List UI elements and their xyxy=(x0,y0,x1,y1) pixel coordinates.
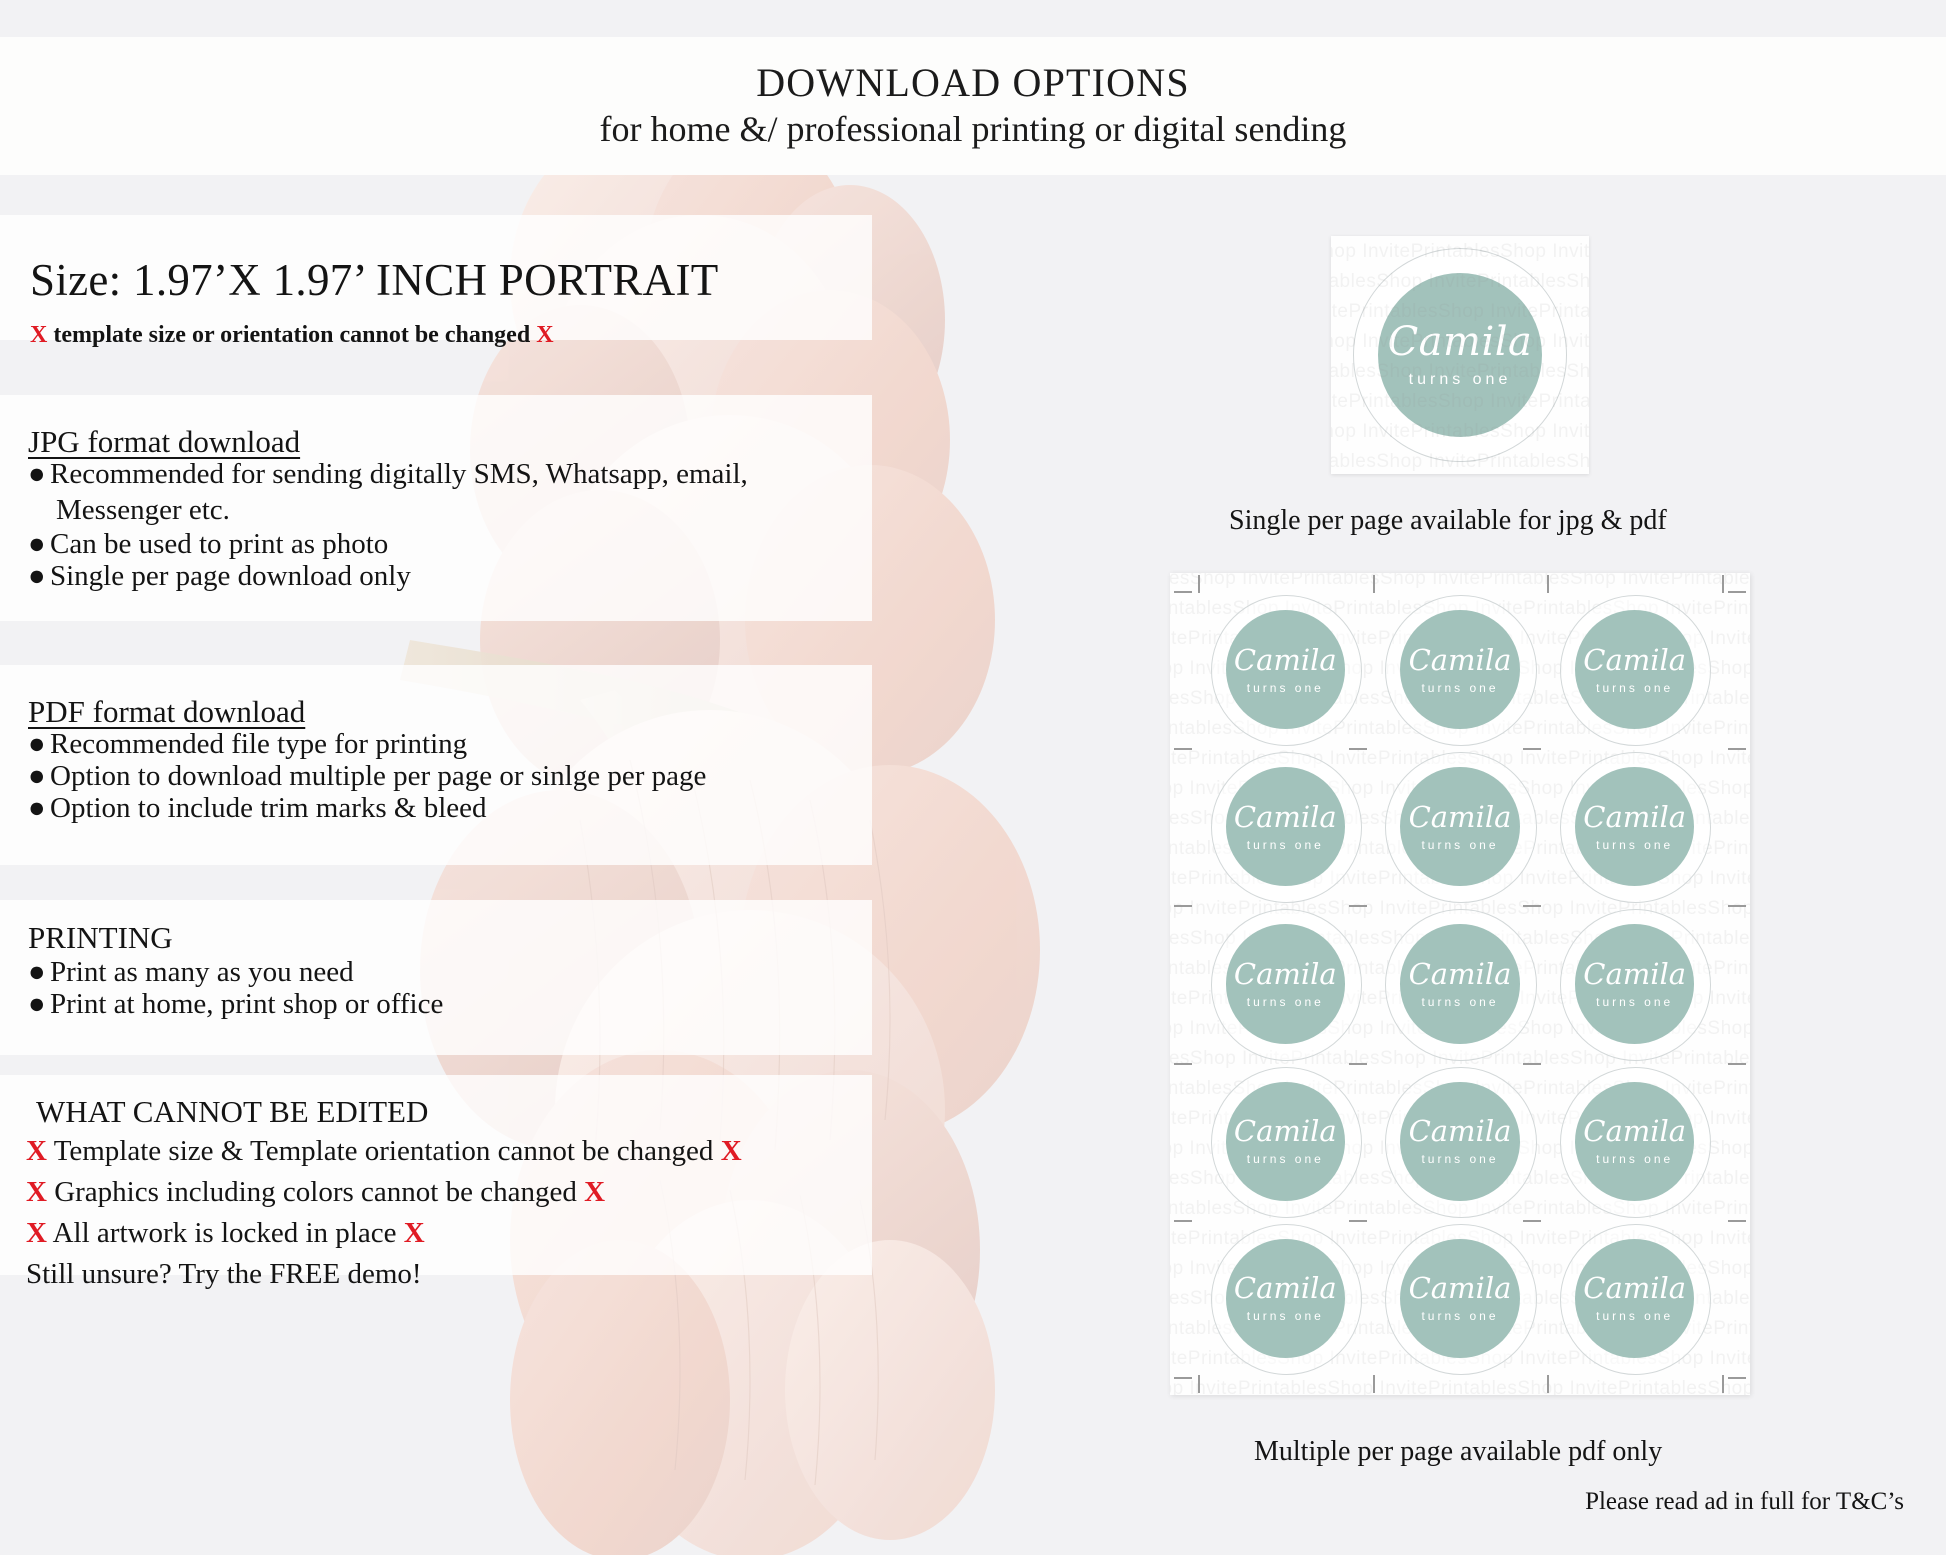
bullet-dot-icon: ● xyxy=(28,561,50,593)
printing-heading: PRINTING xyxy=(28,920,173,956)
pdf-bullet-3: ●Option to include trim marks & bleed xyxy=(28,793,487,825)
pdf-bullet-2-text: Option to download multiple per page or … xyxy=(50,760,706,792)
printing-bullet-1: ●Print as many as you need xyxy=(28,957,354,989)
pdf-heading: PDF format download xyxy=(28,694,305,730)
jpg-bullet-3: ●Single per page download only xyxy=(28,561,411,593)
pdf-bullet-3-text: Option to include trim marks & bleed xyxy=(50,792,487,824)
bullet-dot-icon: ● xyxy=(28,793,50,825)
x-icon-right: X xyxy=(536,322,553,348)
jpg-heading: JPG format download xyxy=(28,424,300,460)
x-icon-right: X xyxy=(584,1176,605,1208)
single-per-page-caption: Single per page available for jpg & pdf xyxy=(1229,505,1667,537)
x-icon-right: X xyxy=(404,1217,425,1249)
bullet-dot-icon: ● xyxy=(28,989,50,1021)
poster-canvas: DOWNLOAD OPTIONS for home &/ professiona… xyxy=(0,0,1946,1555)
printing-bullet-2: ●Print at home, print shop or office xyxy=(28,989,443,1021)
bullet-dot-icon: ● xyxy=(28,729,50,761)
printing-bullet-1-text: Print as many as you need xyxy=(50,956,354,988)
cannot-edit-heading: WHAT CANNOT BE EDITED xyxy=(36,1094,428,1130)
jpg-bullet-1-text: Recommended for sending digitally SMS, W… xyxy=(50,458,748,490)
multiple-per-page-caption: Multiple per page available pdf only xyxy=(1254,1436,1662,1468)
cannot-edit-line-3-text: All artwork is locked in place xyxy=(53,1217,397,1249)
x-icon-left: X xyxy=(30,322,47,348)
cannot-edit-line-2-text: Graphics including colors cannot be chan… xyxy=(54,1176,577,1208)
bullet-dot-icon: ● xyxy=(28,957,50,989)
jpg-bullet-1: ●Recommended for sending digitally SMS, … xyxy=(28,459,748,491)
jpg-bullet-3-text: Single per page download only xyxy=(50,560,411,592)
cannot-edit-line-1: X Template size & Template orientation c… xyxy=(26,1135,742,1168)
size-title: Size: 1.97’X 1.97’ INCH PORTRAIT xyxy=(30,254,719,306)
bullet-dot-icon: ● xyxy=(28,459,50,491)
cannot-edit-line-3: X All artwork is locked in place X xyxy=(26,1217,425,1250)
size-note-text: template size or orientation cannot be c… xyxy=(53,322,530,348)
cannot-edit-closing: Still unsure? Try the FREE demo! xyxy=(26,1258,422,1291)
bullet-dot-icon: ● xyxy=(28,761,50,793)
x-icon-left: X xyxy=(26,1217,47,1249)
pdf-bullet-2: ●Option to download multiple per page or… xyxy=(28,761,706,793)
jpg-bullet-1-continuation: Messenger etc. xyxy=(56,494,230,527)
jpg-bullet-2-text: Can be used to print as photo xyxy=(50,528,388,560)
pdf-bullet-1-text: Recommended file type for printing xyxy=(50,728,467,760)
x-icon-left: X xyxy=(26,1135,47,1167)
terms-note: Please read ad in full for T&C’s xyxy=(1585,1488,1904,1516)
size-note: X template size or orientation cannot be… xyxy=(30,322,554,349)
x-icon-left: X xyxy=(26,1176,47,1208)
left-text-layer: Size: 1.97’X 1.97’ INCH PORTRAIT X templ… xyxy=(0,0,1946,1555)
cannot-edit-line-1-text: Template size & Template orientation can… xyxy=(54,1135,714,1167)
bullet-dot-icon: ● xyxy=(28,529,50,561)
cannot-edit-line-2: X Graphics including colors cannot be ch… xyxy=(26,1176,605,1209)
pdf-bullet-1: ●Recommended file type for printing xyxy=(28,729,467,761)
printing-bullet-2-text: Print at home, print shop or office xyxy=(50,988,443,1020)
x-icon-right: X xyxy=(721,1135,742,1167)
jpg-bullet-2: ●Can be used to print as photo xyxy=(28,529,388,561)
